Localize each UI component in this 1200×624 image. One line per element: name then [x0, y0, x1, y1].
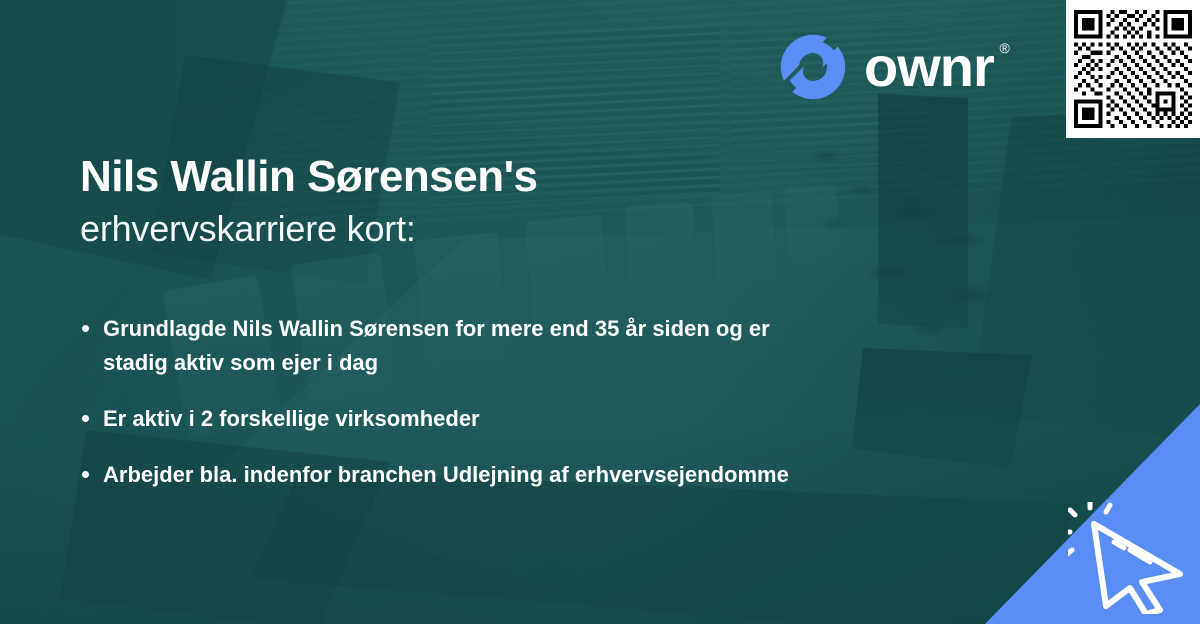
- headline-block: Nils Wallin Sørensen's erhvervskarriere …: [80, 154, 820, 251]
- ownr-wordmark-text: ownr: [864, 35, 994, 98]
- list-item-text: Grundlagde Nils Wallin Sørensen for mere…: [103, 316, 770, 375]
- bullet-dot-icon: [82, 415, 89, 422]
- list-item-text: Arbejder bla. indenfor branchen Udlejnin…: [103, 462, 789, 487]
- list-item: Er aktiv i 2 forskellige virksomheder: [80, 402, 840, 436]
- list-item: Grundlagde Nils Wallin Sørensen for mere…: [80, 312, 840, 380]
- career-summary-list: Grundlagde Nils Wallin Sørensen for mere…: [80, 312, 1060, 492]
- list-item-text: Er aktiv i 2 forskellige virksomheder: [103, 406, 480, 431]
- page-title: Nils Wallin Sørensen's: [80, 154, 820, 200]
- click-cursor-icon: [1068, 502, 1192, 614]
- qr-code-panel[interactable]: [1066, 0, 1200, 138]
- list-item: Arbejder bla. indenfor branchen Udlejnin…: [80, 458, 1060, 492]
- business-card-banner: ownr®: [0, 0, 1200, 624]
- qr-code: [1074, 8, 1192, 130]
- bullet-dot-icon: [82, 471, 89, 478]
- ownr-circle-mark: [778, 32, 848, 102]
- bullet-dot-icon: [82, 325, 89, 332]
- registered-trademark-icon: ®: [999, 41, 1008, 55]
- ownr-logo[interactable]: ownr®: [778, 32, 994, 102]
- page-subtitle: erhvervskarriere kort:: [80, 206, 820, 251]
- ownr-wordmark: ownr®: [864, 39, 994, 95]
